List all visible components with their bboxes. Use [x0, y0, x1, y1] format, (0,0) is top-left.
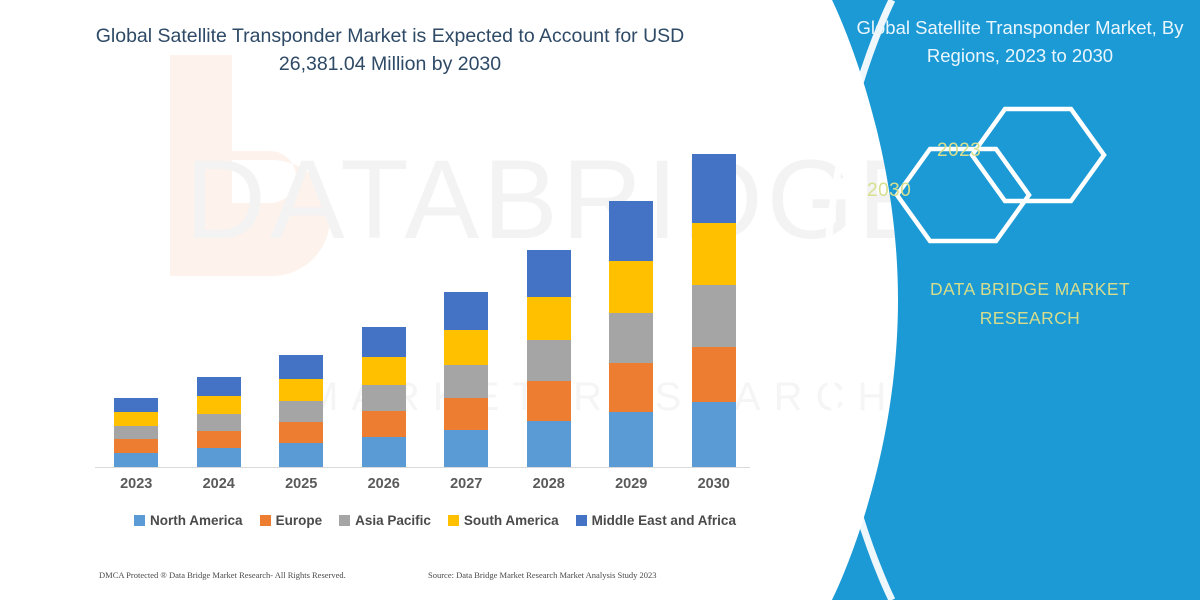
stacked-bar: [692, 154, 736, 467]
chart-area: Global Satellite Transponder Market is E…: [0, 0, 800, 600]
bar-segment: [609, 363, 653, 412]
bar-segment: [114, 426, 158, 439]
x-axis-label: 2029: [594, 476, 668, 492]
bar-segment: [692, 402, 736, 467]
stacked-bar: [197, 377, 241, 467]
footer: DMCA Protected ® Data Bridge Market Rese…: [0, 568, 800, 588]
hexagon-2030-icon: [897, 149, 1029, 241]
bar-segment: [444, 330, 488, 365]
bar-segment: [362, 385, 406, 411]
bar-column: [429, 120, 503, 467]
bar-column: [264, 120, 338, 467]
bar-segment: [279, 355, 323, 379]
bar-column: [182, 120, 256, 467]
legend-swatch: [576, 515, 587, 526]
x-axis-labels: 20232024202520262027202820292030: [95, 476, 755, 492]
bar-column: [677, 120, 751, 467]
legend-label: Asia Pacific: [355, 513, 431, 528]
bar-segment: [527, 421, 571, 467]
bar-segment: [444, 430, 488, 467]
bar-column: [512, 120, 586, 467]
bar-segment: [692, 285, 736, 347]
bar-column: [99, 120, 173, 467]
bar-segment: [197, 414, 241, 431]
legend-label: South America: [464, 513, 559, 528]
legend-item[interactable]: Middle East and Africa: [576, 513, 736, 528]
bar-segment: [362, 411, 406, 437]
bar-segment: [279, 422, 323, 443]
bar-segment: [279, 401, 323, 422]
panel-content: Global Satellite Transponder Market, By …: [780, 0, 1200, 600]
bar-column: [347, 120, 421, 467]
legend-swatch: [134, 515, 145, 526]
legend-swatch: [260, 515, 271, 526]
x-axis-label: 2024: [182, 476, 256, 492]
hex-label-2030: 2030: [867, 180, 911, 202]
bar-segment: [692, 223, 736, 285]
x-axis-label: 2026: [347, 476, 421, 492]
legend-label: Middle East and Africa: [592, 513, 736, 528]
hex-label-2023: 2023: [937, 140, 981, 162]
stacked-bar: [279, 355, 323, 467]
bar-segment: [362, 437, 406, 467]
stacked-bar: [362, 327, 406, 467]
infographic-page: DATABRIDGE MARKET RESEARCH Global Satell…: [0, 0, 1200, 600]
x-axis-label: 2027: [429, 476, 503, 492]
bar-segment: [279, 379, 323, 401]
bar-segment: [609, 412, 653, 467]
legend-label: North America: [150, 513, 243, 528]
bar-segment: [444, 292, 488, 330]
hexagon-2023-icon: [972, 109, 1104, 201]
legend-item[interactable]: South America: [448, 513, 559, 528]
chart-legend: North AmericaEuropeAsia PacificSouth Ame…: [95, 513, 775, 528]
bar-segment: [444, 365, 488, 398]
legend-item[interactable]: Europe: [260, 513, 323, 528]
bar-segment: [114, 453, 158, 467]
bar-segment: [114, 398, 158, 412]
chart-title: Global Satellite Transponder Market is E…: [60, 22, 720, 79]
x-axis-label: 2030: [677, 476, 751, 492]
legend-swatch: [448, 515, 459, 526]
footer-source: Source: Data Bridge Market Research Mark…: [428, 570, 657, 580]
bar-segment: [197, 448, 241, 467]
hexagon-badges: [885, 105, 1185, 245]
stacked-bar: [527, 250, 571, 467]
bar-segment: [279, 443, 323, 467]
footer-copyright: DMCA Protected ® Data Bridge Market Rese…: [99, 570, 346, 580]
bar-segment: [692, 347, 736, 402]
bar-segment: [362, 357, 406, 385]
bar-column: [594, 120, 668, 467]
bar-segment: [609, 313, 653, 363]
panel-brand: DATA BRIDGE MARKET RESEARCH: [885, 275, 1175, 333]
bar-segment: [692, 154, 736, 223]
legend-swatch: [339, 515, 350, 526]
x-axis-line: [95, 467, 750, 468]
panel-brand-line1: DATA BRIDGE MARKET: [885, 275, 1175, 304]
stacked-bar: [609, 201, 653, 467]
bar-segment: [527, 381, 571, 421]
bar-segment: [197, 377, 241, 396]
bar-segment: [444, 398, 488, 430]
bar-segment: [609, 201, 653, 261]
bar-segment: [197, 396, 241, 414]
bar-segment: [527, 297, 571, 340]
panel-title: Global Satellite Transponder Market, By …: [855, 14, 1185, 70]
bar-segment: [609, 261, 653, 313]
bar-segment: [114, 439, 158, 453]
bar-segment: [362, 327, 406, 357]
x-axis-label: 2023: [99, 476, 173, 492]
legend-label: Europe: [276, 513, 323, 528]
legend-item[interactable]: Asia Pacific: [339, 513, 431, 528]
bar-segment: [527, 250, 571, 297]
x-axis-label: 2025: [264, 476, 338, 492]
stacked-bar: [114, 398, 158, 467]
legend-item[interactable]: North America: [134, 513, 243, 528]
bar-segment: [527, 340, 571, 381]
panel-brand-line2: RESEARCH: [885, 304, 1175, 333]
stacked-bar: [444, 292, 488, 467]
stacked-bar-chart: [95, 120, 755, 467]
bar-segment: [114, 412, 158, 426]
bar-segment: [197, 431, 241, 448]
x-axis-label: 2028: [512, 476, 586, 492]
